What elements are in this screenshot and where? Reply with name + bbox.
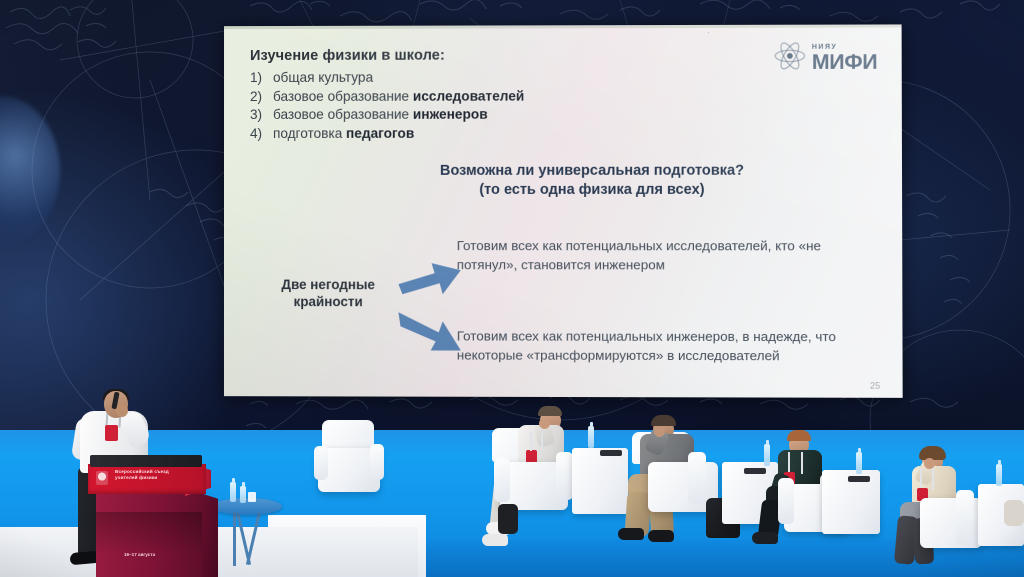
slide-extremes-label: Две негодные крайности [266,276,390,310]
glass-table-top [212,498,282,515]
list-item-text: общая культура [273,69,373,88]
podium-logo-text: Всероссийский съезд учителей физики [115,469,187,482]
logo-subtitle: НИЯУ [812,44,837,51]
chair-arm [556,452,573,500]
slide-diagram: Две негодные крайности Готовим всех как … [250,218,876,378]
projection-screen: Изучение физики в школе: 1) общая культу… [224,24,903,397]
chair-leg [498,504,518,534]
conference-photo: Изучение физики в школе: 1) общая культу… [0,0,1024,577]
slide-page-number: 25 [870,381,880,391]
panelist-hair [538,406,562,416]
panelist-shoe [618,528,644,540]
chair-arm [370,444,384,480]
slide-question: Возможна ли универсальная подготовка? (т… [250,162,876,200]
podium-emblem-icon [96,471,108,485]
panelist-shoe [648,530,674,542]
water-bottle [240,486,246,503]
slide-list: 1) общая культура 2) базовое образование… [250,68,875,143]
water-bottle [856,452,862,474]
water-bottle [588,426,594,448]
podium-date-text: 16–17 августа [124,552,186,558]
panelist-shoe [482,534,508,546]
chair-arm [494,458,510,502]
panelist-hair [787,430,811,441]
list-item: 3) базовое образование инженеров [250,105,875,124]
phone-on-table [600,450,622,456]
arrow-up-right-icon [398,254,460,296]
chair-arm [314,446,328,480]
lanyard-strap [920,468,922,490]
list-item-text: базовое образование инженеров [273,106,488,125]
lanyard-strap [932,468,934,490]
list-item-number: 2) [250,87,266,106]
podium-top-surface [90,455,202,467]
list-item-number: 4) [250,124,266,143]
water-bottle [764,444,770,466]
lanyard-strap [530,432,532,451]
slide-branch-bottom: Готовим всех как потенциальных инженеров… [457,326,876,365]
glass-table-leg [233,512,236,566]
atom-icon [772,39,807,78]
extremes-line1: Две негодные [266,276,390,293]
list-item: 2) базовое образование исследователей [250,86,875,106]
list-item: 4) подготовка педагогов [250,124,875,143]
panelist-shoe [752,532,778,544]
list-item-number: 3) [250,106,266,125]
slide-branch-top: Готовим всех как потенциальных исследова… [457,236,876,274]
speaker-shoe [70,551,99,565]
lanyard-strap [801,452,803,474]
water-bottle [996,464,1002,486]
mephi-logo: НИЯУ МИФИ [772,39,877,78]
phone-on-table [744,468,766,474]
slide-question-line2: (то есть одна физика для всех) [310,181,876,200]
extremes-line2: крайности [266,293,390,310]
panelist-hair [651,415,676,426]
panelist-hand [654,426,665,437]
panelist-partial [1004,500,1024,526]
phone-on-table [848,476,870,482]
lanyard-strap [788,452,790,474]
panelist-hand [539,418,550,429]
chair-arm [956,490,974,544]
speaker-badge [105,425,118,441]
lanyard-strap [541,432,543,451]
list-item-text: подготовка педагогов [273,124,414,143]
speaker-hand [116,404,128,417]
podium-shadow [96,512,202,556]
list-item-number: 1) [250,69,266,88]
chair-arm [778,478,794,524]
chair-arm [688,452,706,504]
water-bottle [230,482,236,502]
logo-title: МИФИ [812,52,878,73]
list-item-text: базовое образование исследователей [273,87,524,106]
slide-question-line1: Возможна ли универсальная подготовка? [310,162,875,181]
drinking-glass [248,492,256,502]
side-table [572,448,628,514]
